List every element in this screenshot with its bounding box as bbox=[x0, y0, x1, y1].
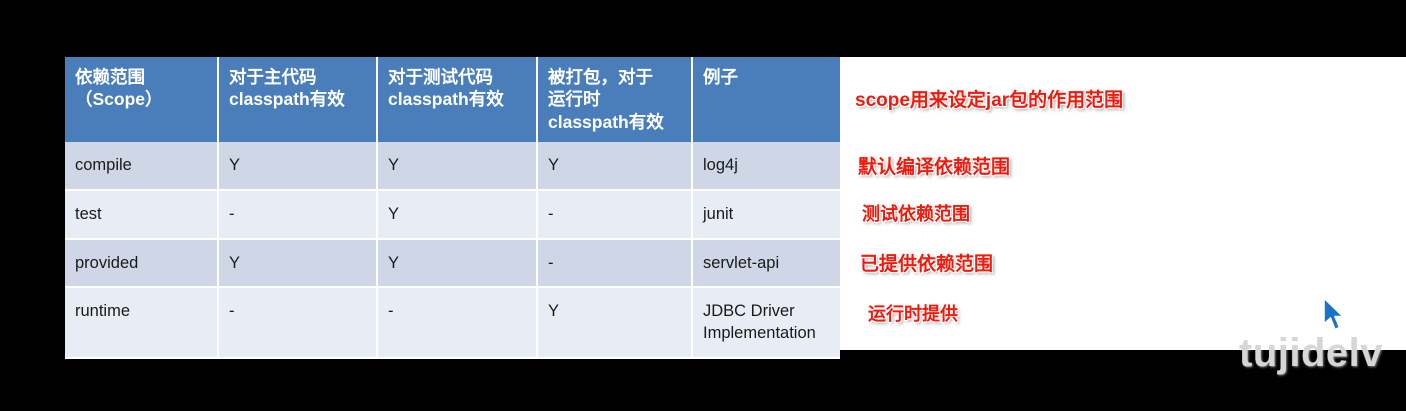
column-header-test-classpath-line1: 对于测试代码 bbox=[388, 66, 536, 88]
table-body: compile Y Y Y log4j test - Y - junit pro… bbox=[65, 142, 840, 358]
cell-test-classpath: - bbox=[377, 287, 537, 358]
cell-runtime-classpath: Y bbox=[537, 142, 692, 190]
cell-example: log4j bbox=[692, 142, 840, 190]
cell-scope: test bbox=[65, 190, 218, 239]
column-header-runtime-classpath-line3: classpath有效 bbox=[548, 111, 691, 133]
annotation-test-scope: 测试依赖范围 bbox=[862, 200, 970, 226]
cell-main-classpath: Y bbox=[218, 142, 377, 190]
cell-example-line1: servlet-api bbox=[703, 254, 779, 272]
column-header-runtime-classpath: 被打包，对于 运行时 classpath有效 bbox=[537, 57, 692, 142]
column-header-main-classpath: 对于主代码 classpath有效 bbox=[218, 57, 377, 142]
column-header-scope: 依赖范围 （Scope） bbox=[65, 57, 218, 142]
cell-example-line2: Implementation bbox=[703, 323, 840, 345]
cell-example: servlet-api bbox=[692, 239, 840, 288]
annotation-scope-definition: scope用来设定jar包的作用范围 bbox=[855, 85, 1123, 112]
column-header-example: 例子 bbox=[692, 57, 840, 142]
cell-test-classpath: Y bbox=[377, 239, 537, 288]
cell-runtime-classpath: - bbox=[537, 239, 692, 288]
table-row: provided Y Y - servlet-api bbox=[65, 239, 840, 288]
cell-main-classpath: - bbox=[218, 190, 377, 239]
cell-scope: compile bbox=[65, 142, 218, 190]
column-header-scope-line1: 依赖范围 bbox=[75, 66, 217, 88]
cell-example-line1: JDBC Driver bbox=[703, 301, 840, 323]
column-header-main-classpath-line1: 对于主代码 bbox=[229, 66, 376, 88]
left-black-mask bbox=[0, 57, 65, 350]
annotation-provided-scope: 已提供依赖范围 bbox=[860, 249, 993, 276]
column-header-main-classpath-line2: classpath有效 bbox=[229, 88, 376, 110]
cell-main-classpath: - bbox=[218, 287, 377, 358]
cell-scope: provided bbox=[65, 239, 218, 288]
cell-example-line1: log4j bbox=[703, 156, 738, 174]
dependency-scope-table: 依赖范围 （Scope） 对于主代码 classpath有效 对于测试代码 cl… bbox=[65, 57, 840, 359]
column-header-test-classpath: 对于测试代码 classpath有效 bbox=[377, 57, 537, 142]
table-header: 依赖范围 （Scope） 对于主代码 classpath有效 对于测试代码 cl… bbox=[65, 57, 840, 142]
column-header-runtime-classpath-line2: 运行时 bbox=[548, 88, 691, 110]
table-row: runtime - - Y JDBC Driver Implementation bbox=[65, 287, 840, 358]
column-header-runtime-classpath-line1: 被打包，对于 bbox=[548, 66, 691, 88]
annotation-runtime-scope: 运行时提供 bbox=[868, 300, 958, 326]
table-header-row: 依赖范围 （Scope） 对于主代码 classpath有效 对于测试代码 cl… bbox=[65, 57, 840, 142]
cell-scope: runtime bbox=[65, 287, 218, 358]
watermark-text: tujidelv bbox=[1239, 331, 1383, 376]
cell-example-line1: junit bbox=[703, 205, 733, 223]
table-row: compile Y Y Y log4j bbox=[65, 142, 840, 190]
column-header-example-line1: 例子 bbox=[703, 66, 840, 88]
cell-example: JDBC Driver Implementation bbox=[692, 287, 840, 358]
table-row: test - Y - junit bbox=[65, 190, 840, 239]
cell-runtime-classpath: Y bbox=[537, 287, 692, 358]
cell-main-classpath: Y bbox=[218, 239, 377, 288]
cell-test-classpath: Y bbox=[377, 142, 537, 190]
cell-example: junit bbox=[692, 190, 840, 239]
column-header-test-classpath-line2: classpath有效 bbox=[388, 88, 536, 110]
cell-test-classpath: Y bbox=[377, 190, 537, 239]
column-header-scope-line2: （Scope） bbox=[75, 88, 217, 110]
cell-runtime-classpath: - bbox=[537, 190, 692, 239]
annotation-compile-scope: 默认编译依赖范围 bbox=[858, 152, 1010, 179]
